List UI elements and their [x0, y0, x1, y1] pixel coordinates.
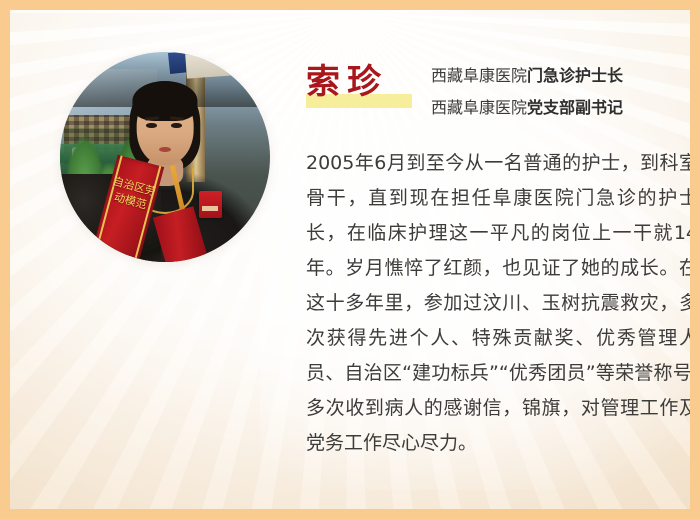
- person-name: 索珍: [306, 59, 388, 105]
- photo-eye-right: [171, 123, 182, 128]
- biography-text: 2005年6月到至今从一名普通的护士，到科室骨干，直到现在担任阜康医院门急诊的护…: [306, 146, 690, 461]
- title-line-2: 西藏阜康医院党支部副书记: [431, 92, 690, 124]
- photo-delegate-badge: [199, 191, 222, 218]
- title-org-2: 西藏阜康医院: [431, 98, 527, 117]
- person-name-block: 索珍: [306, 59, 388, 109]
- photo-papers: [185, 52, 233, 79]
- profile-card: 自治区劳动模范 索珍 西藏阜康医院门急诊护士长 西藏阜康医院党支部副书记 200…: [0, 0, 700, 519]
- photo-hair-front: [132, 81, 197, 121]
- title-role-2: 党支部副书记: [527, 98, 623, 117]
- person-titles: 西藏阜康医院门急诊护士长 西藏阜康医院党支部副书记: [431, 60, 690, 124]
- title-org-1: 西藏阜康医院: [431, 66, 527, 85]
- photo-lips: [159, 147, 172, 152]
- card-canvas: 自治区劳动模范 索珍 西藏阜康医院门急诊护士长 西藏阜康医院党支部副书记 200…: [10, 10, 690, 509]
- portrait-photo: 自治区劳动模范: [60, 52, 270, 262]
- photo-eye-left: [146, 123, 157, 128]
- photo-sash-text: 自治区劳动模范: [105, 173, 159, 214]
- title-role-1: 门急诊护士长: [527, 66, 623, 85]
- title-line-1: 西藏阜康医院门急诊护士长: [431, 60, 690, 92]
